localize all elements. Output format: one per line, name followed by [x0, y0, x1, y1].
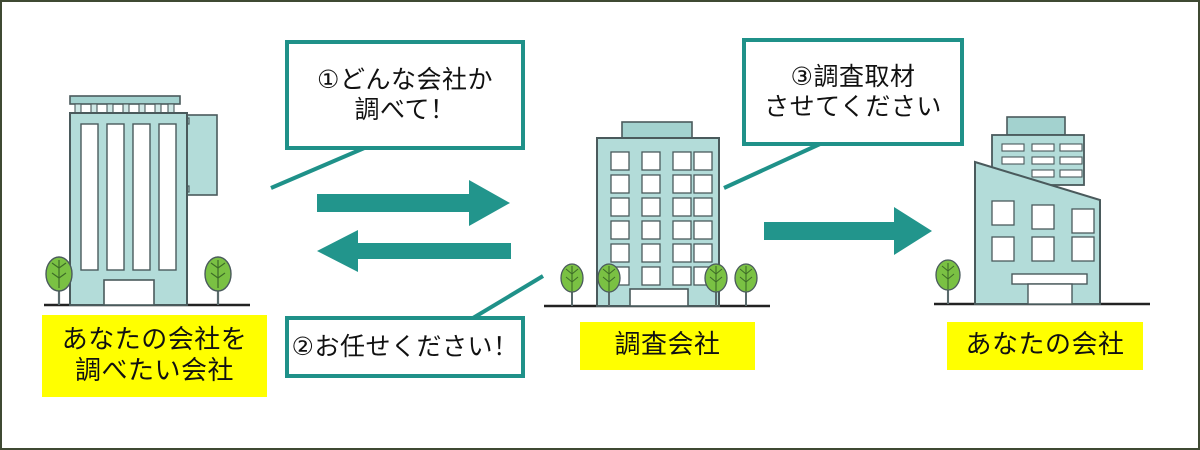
tree-icon — [46, 257, 72, 305]
bubble-1: ①どんな会社か 調べて！ — [285, 40, 525, 150]
bubble-1-line-1: ①どんな会社か — [317, 65, 493, 96]
bubble-2: ②お任せください！ — [285, 316, 525, 378]
label-node-right-line-1: あなたの会社 — [965, 330, 1124, 361]
bubble-2-tail — [467, 272, 547, 322]
tree-icon — [735, 264, 757, 306]
building-center — [542, 117, 772, 309]
building-left — [42, 90, 252, 308]
label-node-right: あなたの会社 — [947, 322, 1143, 370]
bubble-1-line-2: 調べて！ — [354, 95, 455, 126]
bubble-3-line-2: させてください — [764, 92, 942, 123]
label-node-left-line-2: 調べたい会社 — [75, 356, 234, 387]
tree-icon — [205, 257, 231, 305]
arrow-left-bottom — [315, 230, 511, 272]
bubble-3-line-1: ③調査取材 — [791, 62, 916, 93]
bubble-2-line-1: ②お任せください！ — [292, 332, 519, 363]
diagram-canvas: ①どんな会社か 調べて！ ②お任せください！ ③調査取材 させてください あなた… — [0, 0, 1200, 450]
arrow-right-top — [317, 180, 512, 226]
tree-icon — [936, 260, 960, 304]
arrow-right-third — [764, 207, 934, 255]
tree-icon — [561, 264, 583, 306]
label-node-center-line-1: 調査会社 — [614, 330, 720, 361]
label-node-left: あなたの会社を 調べたい会社 — [42, 315, 267, 397]
bubble-3: ③調査取材 させてください — [742, 38, 964, 146]
building-right — [932, 112, 1152, 307]
label-node-center: 調査会社 — [580, 322, 755, 370]
label-node-left-line-1: あなたの会社を — [62, 325, 248, 356]
